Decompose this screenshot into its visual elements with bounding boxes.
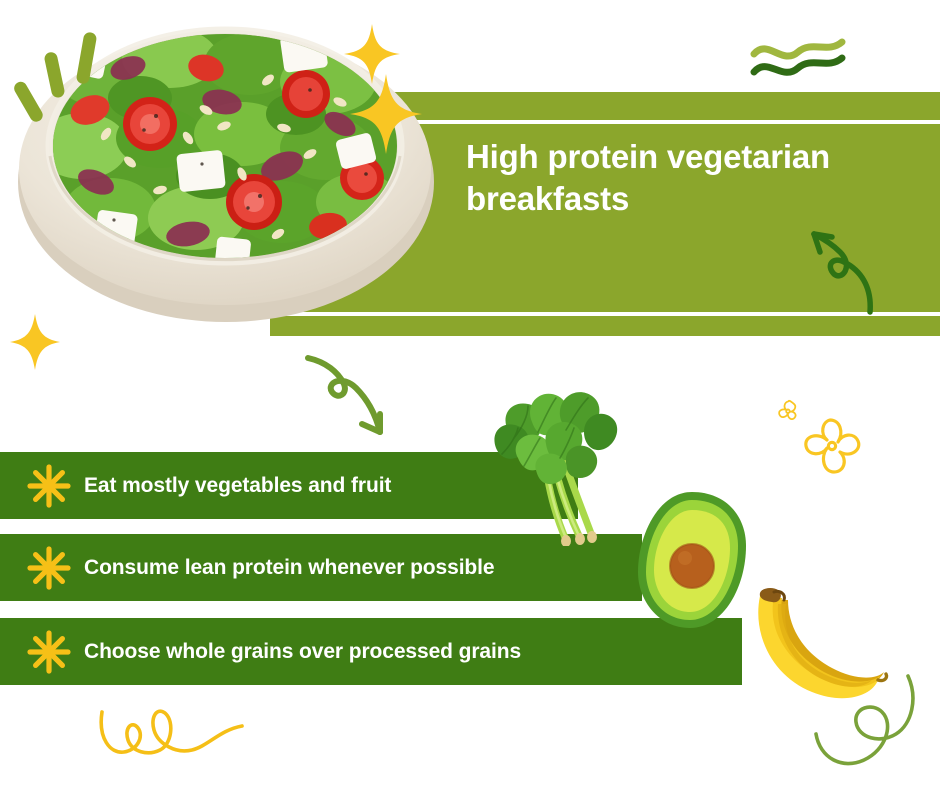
green-curved-arrow-down-icon [300,352,396,452]
yellow-swirl-line-doodle [96,700,246,768]
salad-bowl-image [10,6,440,326]
green-swirl-line-doodle [800,672,930,774]
banana-bunch-illustration [730,586,890,708]
list-item-label: Eat mostly vegetables and fruit [84,474,391,498]
infographic-poster: High protein vegetarian breakfasts [0,0,940,788]
starburst-icon [26,463,72,509]
starburst-icon [26,629,72,675]
page-title: High protein vegetarian breakfasts [466,136,906,219]
starburst-icon [26,545,72,591]
list-item[interactable]: Eat mostly vegetables and fruit [0,452,578,519]
list-item-label: Consume lean protein whenever possible [84,556,494,580]
yellow-flower-doodles [768,396,868,482]
green-wavy-lines-doodle [748,36,848,82]
avocado-half-illustration [630,488,755,633]
list-item-label: Choose whole grains over processed grain… [84,640,521,664]
list-item[interactable]: Consume lean protein whenever possible [0,534,642,601]
list-item[interactable]: Choose whole grains over processed grain… [0,618,742,685]
